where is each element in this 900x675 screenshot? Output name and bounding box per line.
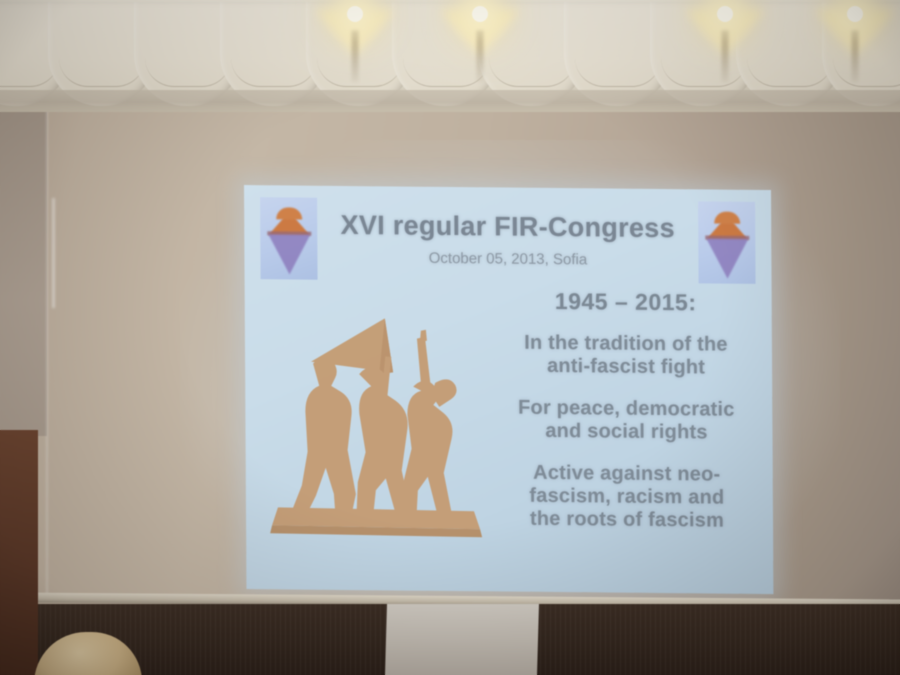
slide-header: XVI regular FIR-Congress October 05, 201… — [244, 191, 772, 292]
ceiling-edge-shadow — [0, 90, 900, 112]
emblem-dome-cap-icon — [276, 207, 302, 219]
slide-stanza-3: Active against neo- fascism, racism and … — [492, 461, 762, 534]
slide-body-text: 1945 – 2015: In the tradition of the ant… — [491, 287, 762, 533]
slide-subtitle-date-location: October 05, 2013, Sofia — [322, 249, 693, 270]
stanza-3-line-2: fascism, racism and — [529, 485, 724, 509]
wall-corner-seam — [46, 100, 48, 600]
projected-slide: XVI regular FIR-Congress October 05, 201… — [244, 185, 773, 594]
stanza-3-line-1: Active against neo- — [533, 461, 720, 485]
slide-stanza-1: In the tradition of the anti-fascist fig… — [491, 331, 761, 380]
light-wall-panel — [385, 604, 539, 675]
wood-door-frame-left — [0, 430, 38, 675]
fir-emblem-right — [698, 201, 755, 284]
scalloped-ceiling — [0, 0, 900, 112]
emblem-triangle-icon — [268, 234, 310, 274]
stanza-3-line-3: the roots of fascism — [530, 508, 724, 532]
slide-stanza-2: For peace, democratic and social rights — [491, 396, 761, 445]
wall-left-face — [0, 96, 47, 436]
presentation-photo-scene: XVI regular FIR-Congress October 05, 201… — [0, 0, 900, 675]
stanza-1-line-2: anti-fascist fight — [547, 355, 705, 379]
slide-years-heading: 1945 – 2015: — [491, 287, 761, 317]
wall-highlight-streak — [52, 198, 55, 308]
stanza-1-line-1: In the tradition of the — [524, 332, 728, 356]
slide-title: XVI regular FIR-Congress — [322, 210, 693, 245]
fir-emblem-left — [260, 197, 317, 280]
antifascist-monument-sculpture — [267, 311, 488, 545]
emblem-triangle-icon — [706, 238, 748, 278]
emblem-dome-cap-icon — [714, 212, 740, 224]
stanza-2-line-1: For peace, democratic — [518, 396, 735, 420]
stanza-2-line-2: and social rights — [545, 420, 707, 444]
